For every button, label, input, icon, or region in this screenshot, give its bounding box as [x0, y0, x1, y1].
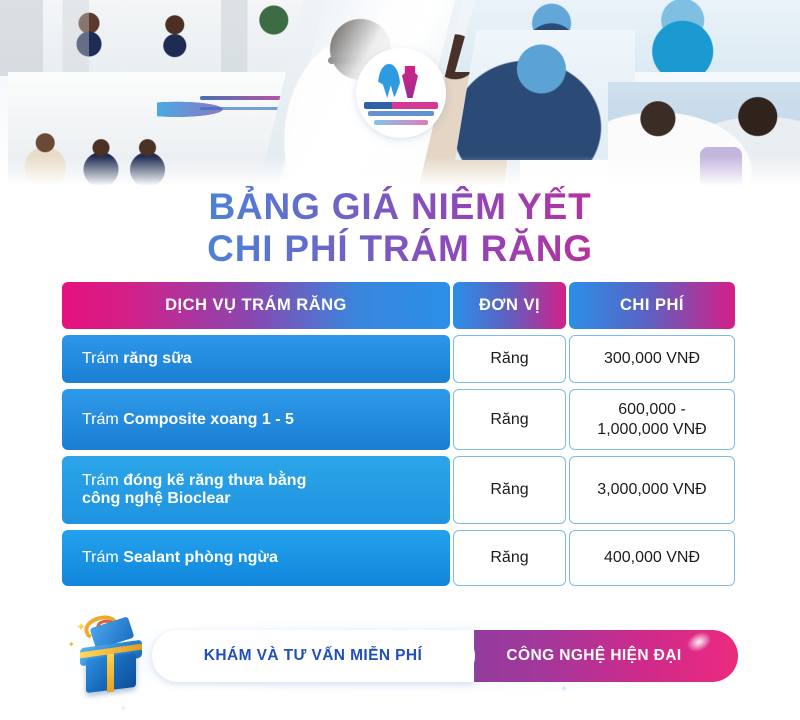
cta-modern-tech-button[interactable]: CÔNG NGHỆ HIỆN ĐẠI: [450, 630, 738, 682]
bottom-cta-banner: ✦ ✦ ✦ KHÁM VÀ TƯ VẤN MIỄN PHÍ CÔNG NGHỆ …: [62, 614, 738, 700]
logo-name-text: [364, 102, 438, 109]
cell-service: Trám Sealant phòng ngừa: [62, 530, 450, 586]
page-title: BẢNG GIÁ NIÊM YẾT CHI PHÍ TRÁM RĂNG: [0, 186, 800, 270]
header-price-label: CHI PHÍ: [620, 296, 684, 315]
title-line-2: CHI PHÍ TRÁM RĂNG: [0, 228, 800, 270]
service-text: Trám Composite xoang 1 - 5: [82, 411, 294, 429]
table-header-row: DỊCH VỤ TRÁM RĂNG ĐƠN VỊ CHI PHÍ: [62, 282, 738, 329]
price-line-1: 3,000,000 VNĐ: [597, 480, 706, 500]
cta-modern-tech-label: CÔNG NGHỆ HIỆN ĐẠI: [506, 647, 681, 665]
cell-unit: Răng: [453, 389, 566, 450]
logo-sub-text: [368, 111, 434, 116]
photo-reception-staff: [0, 0, 320, 76]
cell-service: Trám đóng kẽ răng thưa bằngcông nghệ Bio…: [62, 456, 450, 524]
price-line-1: 300,000 VNĐ: [604, 349, 700, 369]
price-multiline: 600,000 - 1,000,000 VNĐ: [597, 400, 706, 440]
table-row: Trám răng sữa Răng 300,000 VNĐ: [62, 335, 738, 383]
sparkle-icon: ✦: [560, 684, 568, 695]
gift-ribbon-vertical: [107, 654, 114, 693]
service-text: Trám đóng kẽ răng thưa bằngcông nghệ Bio…: [82, 472, 306, 508]
service-text: Trám răng sữa: [82, 350, 192, 368]
cta-pill-group: KHÁM VÀ TƯ VẤN MIỄN PHÍ CÔNG NGHỆ HIỆN Đ…: [152, 630, 738, 682]
sparkle-icon: ✦: [68, 640, 75, 649]
header-service-label: DỊCH VỤ TRÁM RĂNG: [165, 296, 347, 315]
pill-shine: [683, 628, 714, 656]
cell-unit: Răng: [453, 335, 566, 383]
title-line-1: BẢNG GIÁ NIÊM YẾT: [0, 186, 800, 228]
clinic-logo: [358, 50, 444, 136]
table-row: Trám Composite xoang 1 - 5 Răng 600,000 …: [62, 389, 738, 450]
price-line-2: 1,000,000 VNĐ: [597, 421, 706, 438]
cell-price: 400,000 VNĐ: [569, 530, 735, 586]
cell-service: Trám Composite xoang 1 - 5: [62, 389, 450, 450]
header-cell-service: DỊCH VỤ TRÁM RĂNG: [62, 282, 450, 329]
cell-service: Trám răng sữa: [62, 335, 450, 383]
price-line-1: 400,000 VNĐ: [604, 548, 700, 568]
logo-slogan-text: [374, 120, 428, 125]
service-text: Trám Sealant phòng ngừa: [82, 549, 278, 567]
header-cell-unit: ĐƠN VỊ: [453, 282, 566, 329]
cell-unit: Răng: [453, 530, 566, 586]
collage-bottom-fade: [0, 156, 800, 190]
cell-price: 600,000 - 1,000,000 VNĐ: [569, 389, 735, 450]
cell-unit: Răng: [453, 456, 566, 524]
gift-box-icon: ✦ ✦ ✦: [66, 618, 152, 698]
sparkle-icon: ✦: [120, 704, 127, 713]
table-row: Trám đóng kẽ răng thưa bằngcông nghệ Bio…: [62, 456, 738, 524]
price-table: DỊCH VỤ TRÁM RĂNG ĐƠN VỊ CHI PHÍ Trám ră…: [62, 282, 738, 586]
cell-price: 300,000 VNĐ: [569, 335, 735, 383]
header-unit-label: ĐƠN VỊ: [479, 296, 540, 315]
cell-price: 3,000,000 VNĐ: [569, 456, 735, 524]
cta-free-consult-button[interactable]: KHÁM VÀ TƯ VẤN MIỄN PHÍ: [152, 630, 474, 682]
table-row: Trám Sealant phòng ngừa Răng 400,000 VNĐ: [62, 530, 738, 586]
price-line-1: 600,000 -: [618, 401, 686, 418]
header-cell-price: CHI PHÍ: [569, 282, 735, 329]
